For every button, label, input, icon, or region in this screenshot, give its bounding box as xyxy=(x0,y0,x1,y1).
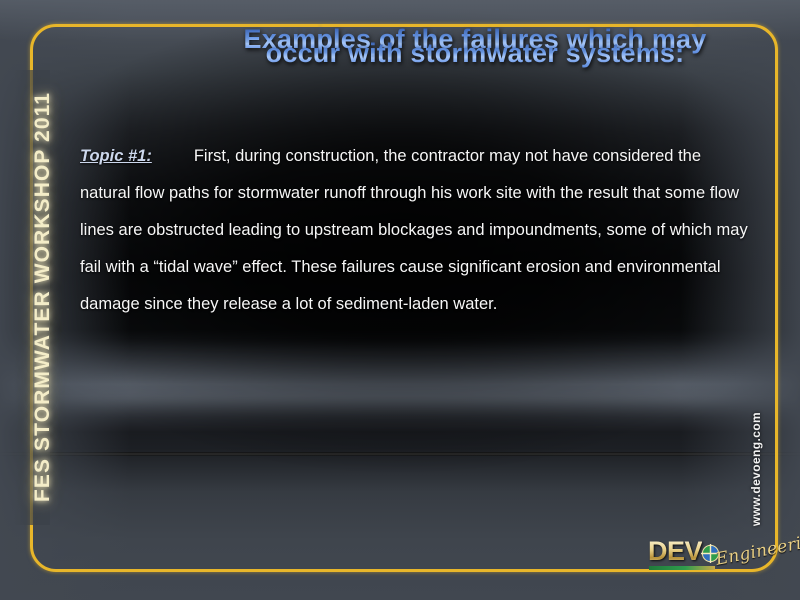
title-line-2-reflection: occur with stormwater systems: xyxy=(180,35,770,63)
logo-script-text: Engineering xyxy=(714,529,800,570)
body-paragraph: First, during construction, the contract… xyxy=(80,147,748,313)
logo-wordmark: DEV xyxy=(648,536,702,567)
devo-engineering-logo[interactable]: DEV Engineering xyxy=(648,536,788,594)
presentation-slide: FES STORMWATER WORKSHOP 2011 www.devoeng… xyxy=(0,0,800,600)
topic-label: Topic #1: xyxy=(80,147,152,165)
slide-body-text: Topic #1:First, during construction, the… xyxy=(80,138,752,323)
logo-underbar xyxy=(649,566,715,570)
sidebar-workshop-title: FES STORMWATER WORKSHOP 2011 xyxy=(31,47,55,547)
title-line-2-group: occur with stormwater systems: occur wit… xyxy=(180,36,770,72)
website-url-label: www.devoeng.com xyxy=(749,379,763,559)
slide-title: Examples of the failures which may Examp… xyxy=(180,22,770,72)
